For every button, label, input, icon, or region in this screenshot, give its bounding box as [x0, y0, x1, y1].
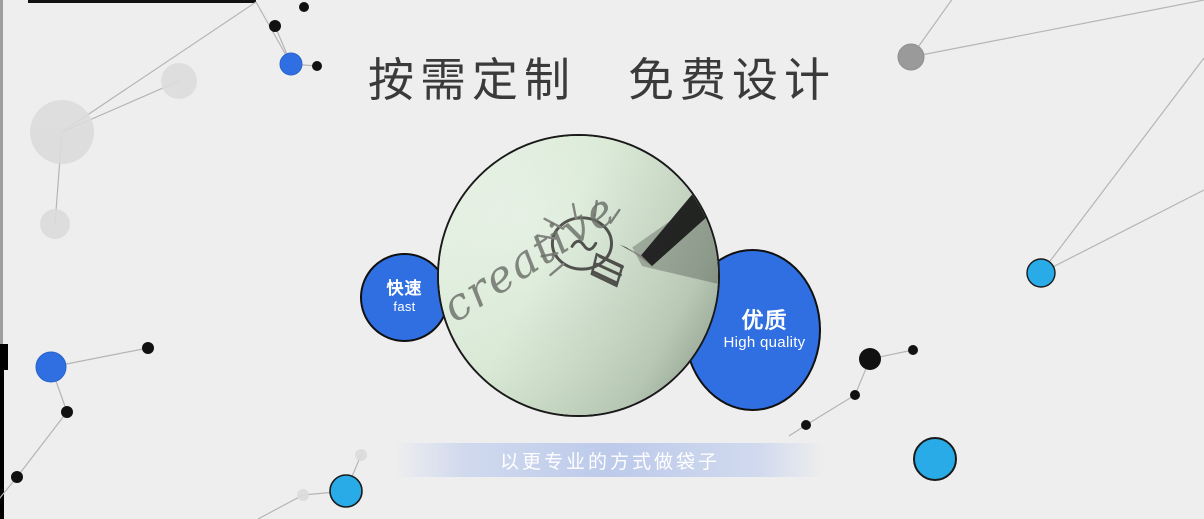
node-black [850, 390, 860, 400]
left-edge-black-rail [0, 345, 4, 519]
node-black [142, 342, 154, 354]
node-black [908, 345, 918, 355]
node-black [859, 348, 881, 370]
node-bubble [355, 449, 367, 461]
creative-photo-circle: creative [437, 134, 720, 417]
node-black [269, 20, 281, 32]
left-edge-black-block [0, 344, 8, 370]
node-black [299, 2, 309, 12]
node-cyan [914, 438, 956, 480]
photo-content: creative [439, 136, 718, 415]
node-black [11, 471, 23, 483]
tagline-ribbon: 以更专业的方式做袋子 [395, 443, 825, 477]
node-bubble [40, 209, 70, 239]
node-black [61, 406, 73, 418]
headline-title: 按需定制 免费设计 [0, 44, 1204, 110]
feature-quality-label-en: High quality [724, 333, 806, 353]
top-edge-line [28, 0, 256, 3]
node-cyan [1027, 259, 1055, 287]
node-blue [36, 352, 66, 382]
promo-banner: 按需定制 免费设计 快速 fast [0, 0, 1204, 519]
feature-fast-label-en: fast [393, 299, 415, 316]
feature-fast-label-cn: 快速 [387, 279, 423, 299]
tagline-text: 以更专业的方式做袋子 [500, 447, 720, 474]
feature-quality-label-cn: 优质 [741, 308, 787, 333]
node-bubble [297, 489, 309, 501]
node-black [801, 420, 811, 430]
feature-circle-fast[interactable]: 快速 fast [360, 253, 449, 342]
node-cyan [330, 475, 362, 507]
